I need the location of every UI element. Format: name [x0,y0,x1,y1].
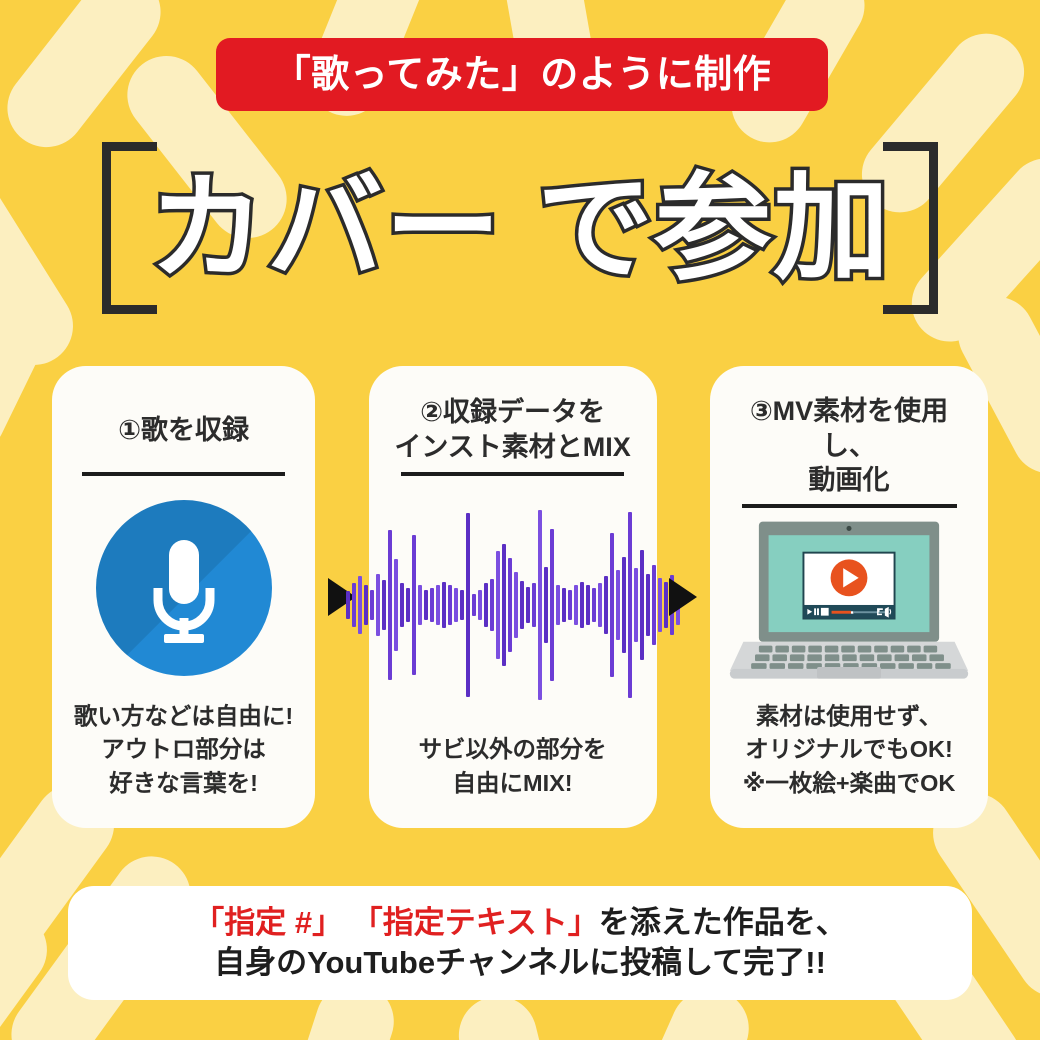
waveform-bar [346,591,350,619]
waveform-bar [490,579,494,631]
footer-callout: 「指定 #」 「指定テキスト」を添えた作品を、 自身のYouTubeチャンネルに… [68,886,972,1000]
waveform-bar [382,580,386,630]
waveform-bar [556,585,560,625]
step-card-2-title: ②収録データを インスト素材とMIX [394,394,630,466]
microphone-glyph [96,500,272,676]
step-card-3-visual [724,508,974,700]
footer-text-label: 「指定テキスト」 [352,905,599,940]
waveform-bar [592,588,596,622]
waveform-bar [460,590,464,620]
waveform-bar [352,583,356,627]
step-card-2: ②収録データを インスト素材とMIX サビ以外の部分を 自由にMIX! [369,366,657,828]
waveform-bar [448,585,452,625]
waveform-bar [646,574,650,636]
waveform-bar [622,557,626,653]
waveform-bar [478,590,482,620]
microphone-icon [96,500,272,676]
waveform-bar [508,558,512,652]
footer-line-1: 「指定 #」 「指定テキスト」を添えた作品を、 [193,905,847,942]
waveform-bar [514,572,518,638]
waveform-bar [388,530,392,680]
tagline-badge-text: 「歌ってみた」のように制作 [273,56,772,94]
waveform-bar [628,512,632,698]
waveform-bar [550,529,554,681]
waveform-bar [580,582,584,628]
waveform-bar [544,567,548,643]
waveform-bar [496,551,500,659]
step-card-2-visual [383,476,643,733]
play-triangle-icon [669,578,697,616]
waveform-bar [484,583,488,627]
footer-hashtag-label: 「指定 #」 [193,905,343,940]
waveform-bar [634,568,638,642]
waveform-bar [604,576,608,634]
waveform-bar [538,510,542,700]
step-card-1-visual [66,476,301,700]
step-card-3-title: ③MV素材を使用し、 動画化 [724,394,974,498]
waveform-bar [376,574,380,636]
step-card-1: ①歌を収録 歌い方などは自由に! アウトロ部分は 好きな言葉を! [52,366,315,828]
waveform-bar [562,588,566,622]
waveform-bar [466,513,470,697]
waveform-bar [502,544,506,666]
waveform-bar [412,535,416,675]
waveform-bar [406,588,410,622]
footer-line-2: 自身のYouTubeチャンネルに投稿して完了!! [214,945,826,982]
waveform-bar [364,585,368,625]
page-title: カバー で参加 [0,150,1040,307]
waveform-icon [346,510,680,700]
headline-area: カバー で参加 [0,130,1040,330]
waveform-bar [454,588,458,622]
waveform-bar [436,585,440,625]
waveform-bar [532,583,536,627]
waveform-bar [394,559,398,651]
waveform-bar [526,587,530,623]
step-card-1-caption: 歌い方などは自由に! アウトロ部分は 好きな言葉を! [74,700,293,810]
waveform-bar [574,585,578,625]
waveform-bar [442,582,446,628]
waveform-bar [472,594,476,616]
waveform-bar [418,585,422,625]
laptop-video-icon [724,513,974,695]
waveform-bar [358,576,362,634]
waveform-bar [430,588,434,622]
waveform-bar [586,585,590,625]
step-arrow-2 [657,366,710,828]
waveform-bar [640,550,644,660]
step-card-3-caption: 素材は使用せず、 オリジナルでもOK! ※一枚絵+楽曲でOK [743,700,956,810]
waveform-bar [610,533,614,677]
waveform-bar [520,581,524,629]
waveform-bar [652,565,656,645]
step-card-2-caption: サビ以外の部分を 自由にMIX! [419,733,607,810]
waveform-bar [424,590,428,620]
capsule-decoration [0,895,62,1040]
step-card-3: ③MV素材を使用し、 動画化 [710,366,988,828]
waveform-bar [598,583,602,627]
steps-container: ①歌を収録 歌い方などは自由に! アウトロ部分は 好きな言葉を! [52,366,988,828]
footer-line-1-tail: を添えた作品を、 [599,905,847,940]
waveform-bar [568,590,572,620]
step-card-1-title: ①歌を収録 [118,394,249,466]
poster-root: 「歌ってみた」のように制作 カバー で参加 ①歌を収録 [0,0,1040,1040]
tagline-badge: 「歌ってみた」のように制作 [216,38,828,111]
waveform-bar [400,583,404,627]
waveform-bar [370,590,374,620]
waveform-bar [616,570,620,640]
